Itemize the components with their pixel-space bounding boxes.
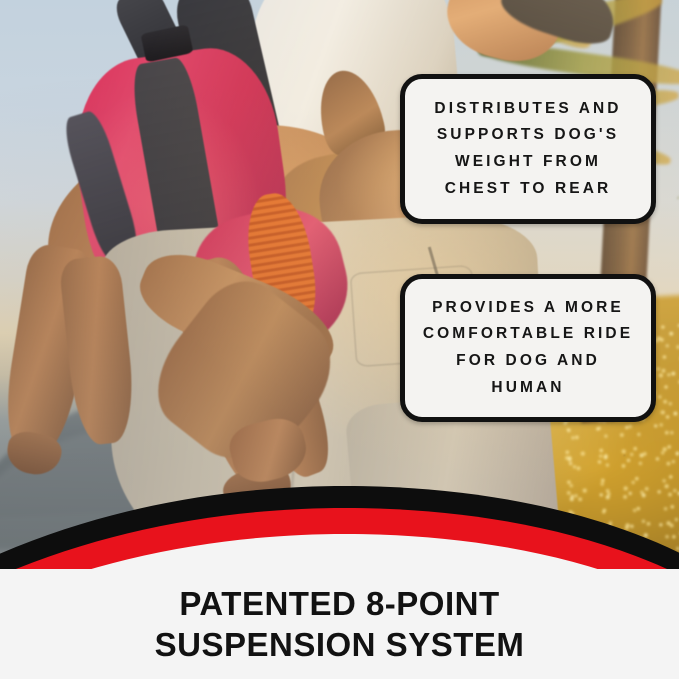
caption-line-1: PATENTED 8-POINT — [179, 587, 499, 620]
callout-text: PROVIDES A MORE COMFORTABLE RIDE FOR DOG… — [405, 291, 651, 406]
caption-line-2: SUSPENSION SYSTEM — [155, 628, 525, 661]
product-feature-infographic: PATENTED 8-POINT SUSPENSION SYSTEM DISTR… — [0, 0, 679, 679]
feature-callout-weight-distribution: DISTRIBUTES AND SUPPORTS DOG'S WEIGHT FR… — [400, 74, 656, 224]
caption-banner: PATENTED 8-POINT SUSPENSION SYSTEM — [0, 569, 679, 679]
feature-callout-comfortable-ride: PROVIDES A MORE COMFORTABLE RIDE FOR DOG… — [400, 274, 656, 422]
callout-text: DISTRIBUTES AND SUPPORTS DOG'S WEIGHT FR… — [405, 92, 651, 207]
